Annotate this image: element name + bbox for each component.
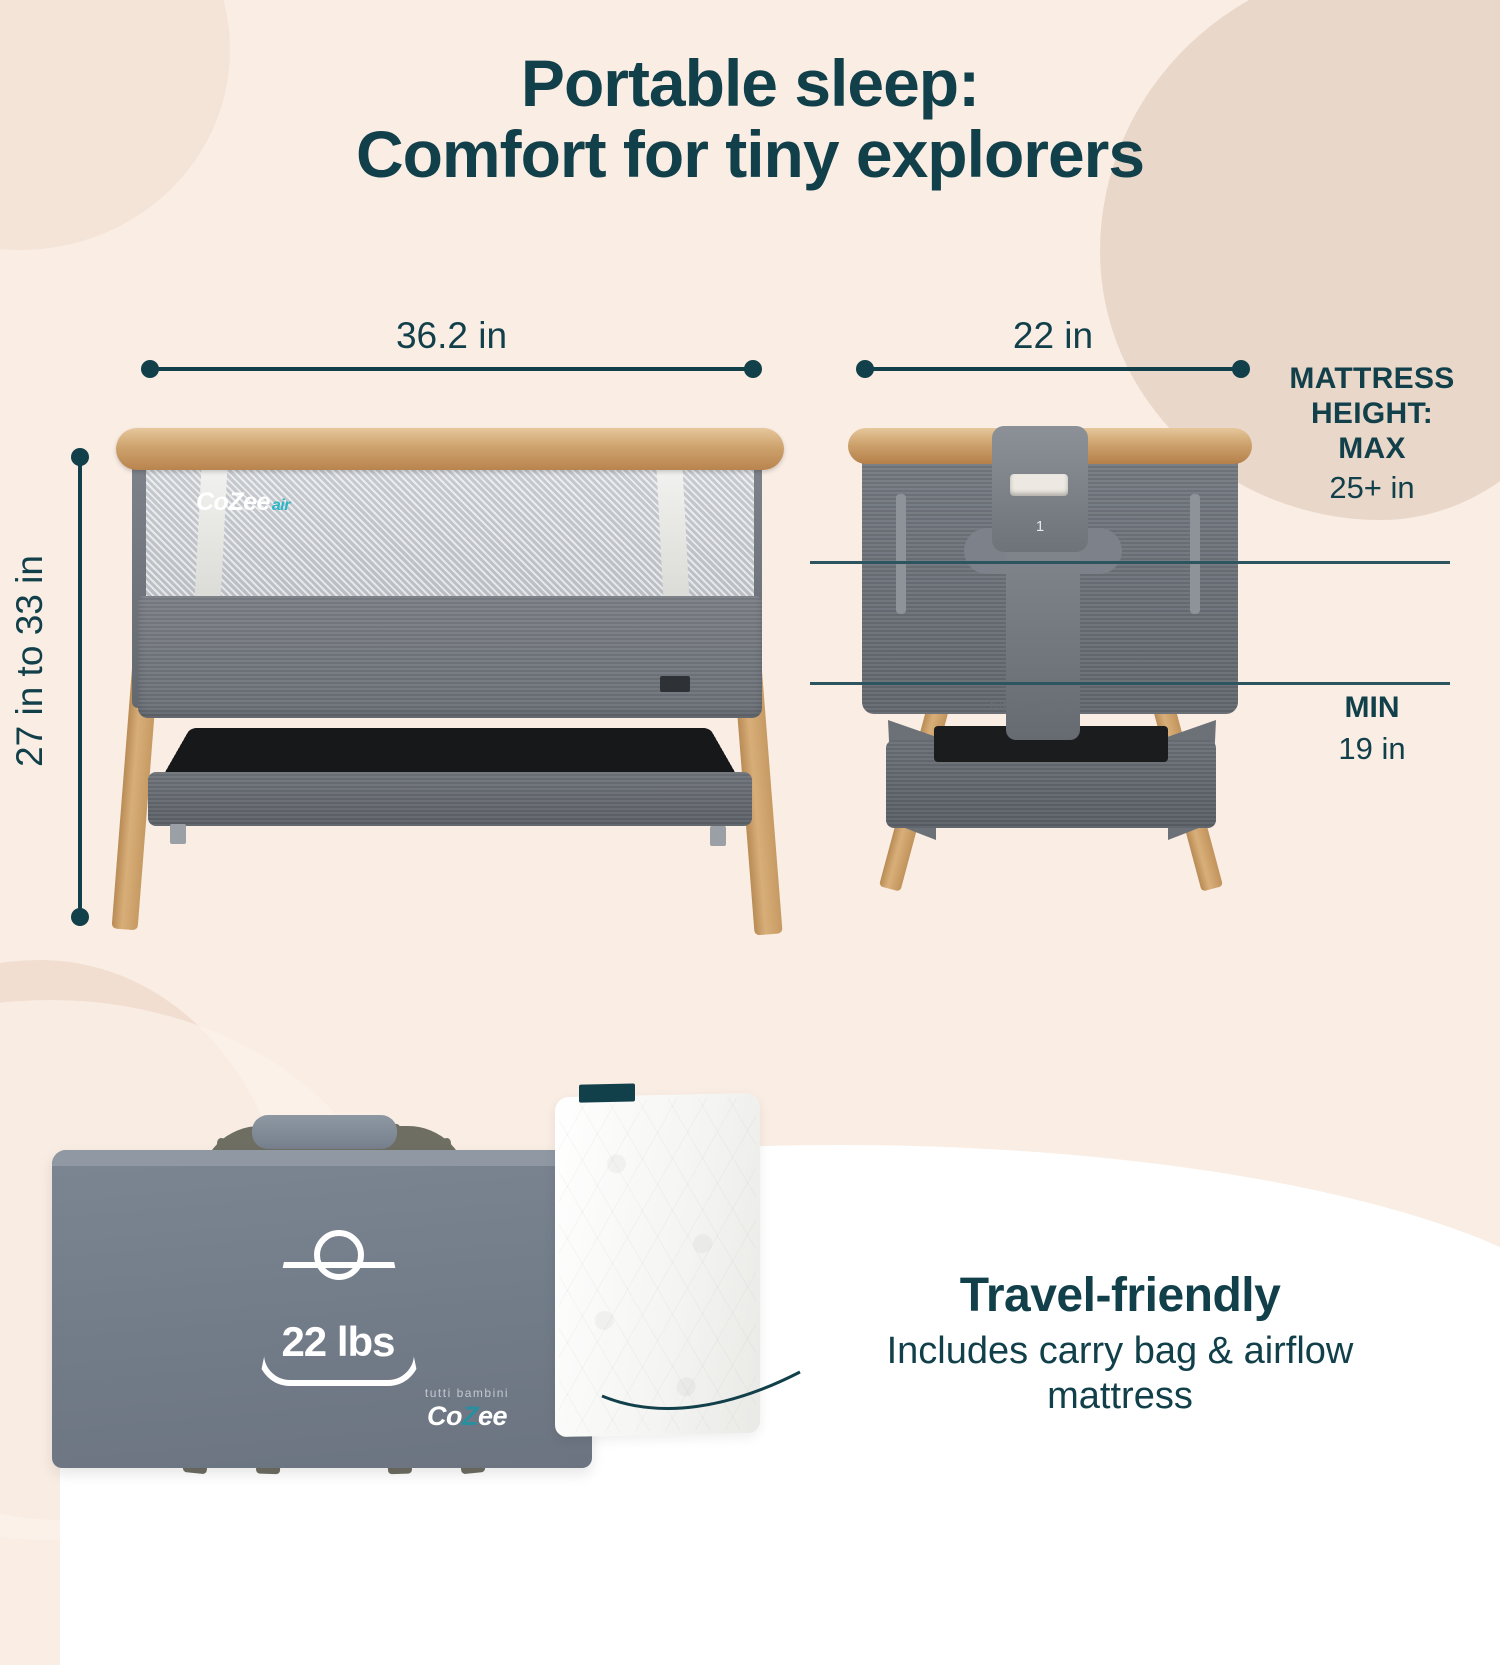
storage-basket — [148, 720, 752, 840]
carry-bag-top-edge — [52, 1150, 592, 1166]
mattress-brand-label — [579, 1083, 635, 1102]
carry-bag: 22 lbs tutti bambini CoZee — [52, 1120, 612, 1470]
leader-line — [600, 1300, 900, 1410]
infographic-canvas: Portable sleep: Comfort for tiny explore… — [0, 0, 1500, 1500]
mattress-height-min-block: MIN 19 in — [1272, 690, 1472, 767]
cozee-post: ee — [478, 1401, 507, 1431]
dimension-label-width-main: 36.2 in — [143, 315, 760, 357]
page-title-line-2: Comfort for tiny explorers — [0, 119, 1500, 190]
dimension-label-height: 27 in to 33 in — [9, 481, 51, 841]
storage-basket-front — [148, 772, 752, 826]
weight-badge: 22 lbs — [248, 1230, 428, 1390]
dimension-line-height — [78, 452, 82, 922]
tutti-bambini-logo-side: tutti bambini — [990, 698, 1073, 713]
travel-friendly-callout: Travel-friendly Includes carry bag & air… — [860, 1268, 1380, 1419]
height-adjust-indicator: 1 — [992, 518, 1088, 535]
bassinet-fabric-body — [138, 596, 762, 718]
dimension-endpoint-left — [141, 360, 159, 378]
mattress-height-min-label: MIN — [1272, 690, 1472, 726]
dimension-endpoint-right — [1232, 360, 1250, 378]
mattress-height-max-value: 25+ in — [1272, 470, 1472, 506]
bassinet-top-rail — [116, 428, 784, 470]
carry-bag-branding: tutti bambini CoZee — [402, 1386, 532, 1432]
zipper-left — [896, 494, 906, 614]
reference-line-max-height — [810, 561, 1450, 564]
zipper-right — [1190, 494, 1200, 614]
mattress-height-title-line-1: MATTRESS — [1272, 362, 1472, 397]
carry-bag-handle-grip — [252, 1115, 397, 1149]
height-adjust-slot — [1010, 474, 1068, 496]
travel-friendly-title: Travel-friendly — [860, 1268, 1380, 1323]
dimension-endpoint-bottom — [71, 908, 89, 926]
page-title: Portable sleep: Comfort for tiny explore… — [0, 48, 1500, 191]
brand-tag — [660, 676, 690, 692]
bassinet-foot-left — [170, 824, 186, 844]
reference-line-min-height — [810, 682, 1450, 685]
bassinet-foot-right — [710, 826, 726, 846]
page-title-line-1: Portable sleep: — [521, 46, 979, 120]
dimension-endpoint-left — [856, 360, 874, 378]
dimension-bar — [143, 367, 760, 371]
tutti-bambini-logo-bag: tutti bambini — [402, 1386, 532, 1400]
dimension-endpoint-right — [744, 360, 762, 378]
height-adjust-mechanism: 1 — [992, 426, 1088, 552]
cozee-logo-bag: CoZee — [402, 1401, 532, 1432]
cozee-air-suffix: air — [272, 497, 290, 514]
travel-friendly-subtitle: Includes carry bag & airflow mattress — [860, 1329, 1380, 1419]
cozee-logo-basket: CoZeeair — [196, 488, 290, 517]
cozee-wordmark: CoZee — [196, 488, 270, 516]
mattress-height-title-line-2: HEIGHT: — [1272, 397, 1472, 432]
bassinet-front-view: CoZeeair — [110, 420, 790, 940]
mattress-height-min-value: 19 in — [1272, 730, 1472, 767]
mattress-height-max-label: MAX — [1272, 432, 1472, 467]
weight-value: 22 lbs — [248, 1318, 428, 1366]
dimension-bar — [858, 367, 1248, 371]
cozee-pre: Co — [427, 1401, 462, 1431]
bassinet-side-view: 1 tutti bambini — [840, 420, 1260, 960]
dimension-label-width-side: 22 in — [858, 315, 1248, 357]
bassinet-side-storage-tray — [886, 740, 1216, 828]
dimension-endpoint-top — [71, 448, 89, 466]
mattress-height-max-block: MATTRESS HEIGHT: MAX 25+ in — [1272, 362, 1472, 506]
cozee-z: Z — [462, 1401, 478, 1431]
